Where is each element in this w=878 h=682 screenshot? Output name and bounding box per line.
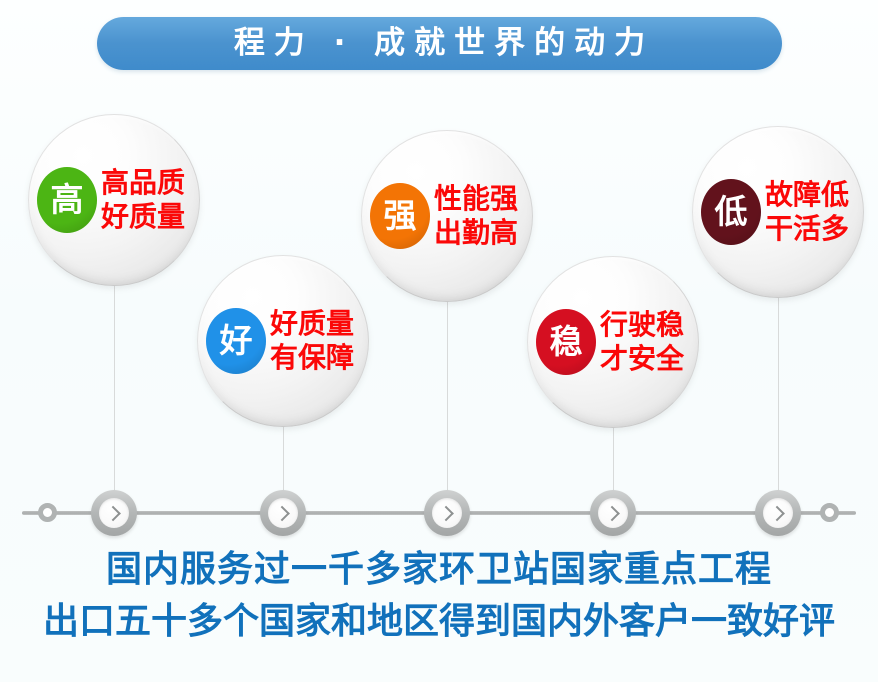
chevron-right-icon [604,505,620,521]
footer-line-1: 国内服务过一千多家环卫站国家重点工程 [0,548,878,592]
balloon-badge-2: 好 [206,308,266,374]
balloon-content: 高 高品质 好质量 [29,115,199,285]
feature-balloon-5: 低 故障低 干活多 [692,126,864,298]
balloon-badge-label: 低 [715,195,748,228]
feature-balloon-4: 稳 行驶稳 才安全 [527,256,699,428]
footer-copy: 国内服务过一千多家环卫站国家重点工程 出口五十多个国家和地区得到国内外客户一致好… [0,548,878,644]
feature-balloon-1: 高 高品质 好质量 [28,114,200,286]
timeline-node-2[interactable] [260,490,306,536]
footer-line-2: 出口五十多个国家和地区得到国内外客户一致好评 [0,600,878,644]
timeline-end-ring-left-icon [38,503,57,522]
chevron-right-icon [274,505,290,521]
balloon-badge-5: 低 [701,179,761,245]
balloon-line-secondary: 出勤高 [434,218,518,248]
timeline-node-core [432,498,462,528]
balloon-text-block: 性能强 出勤高 [434,184,518,248]
balloon-content: 强 性能强 出勤高 [362,131,532,301]
balloon-badge-4: 稳 [536,309,596,375]
balloon-text-block: 高品质 好质量 [101,168,185,232]
header-title: 程力 · 成就世界的动力 [225,28,654,59]
balloon-line-secondary: 才安全 [600,344,684,374]
balloon-content: 稳 行驶稳 才安全 [528,257,698,427]
balloon-string-1 [114,285,115,513]
feature-balloon-3: 强 性能强 出勤高 [361,130,533,302]
timeline-node-4[interactable] [590,490,636,536]
balloon-content: 低 故障低 干活多 [693,127,863,297]
balloon-badge-label: 好 [220,324,253,357]
balloon-line-secondary: 有保障 [270,343,354,373]
balloon-text-block: 好质量 有保障 [270,309,354,373]
balloon-line-secondary: 干活多 [765,214,849,244]
timeline-node-1[interactable] [91,490,137,536]
chevron-right-icon [438,505,454,521]
balloon-line-primary: 高品质 [101,168,185,198]
header-banner: 程力 · 成就世界的动力 [97,17,782,70]
balloon-line-primary: 故障低 [765,180,849,210]
feature-balloon-2: 好 好质量 有保障 [197,255,369,427]
balloon-line-secondary: 好质量 [101,202,185,232]
chevron-right-icon [105,505,121,521]
balloon-line-primary: 行驶稳 [600,310,684,340]
promo-banner-stage: 程力 · 成就世界的动力 高 高品质 好质量 好 好质量 有保障 [0,0,878,682]
balloon-badge-1: 高 [37,167,97,233]
balloon-text-block: 行驶稳 才安全 [600,310,684,374]
balloon-badge-3: 强 [370,183,430,249]
timeline-node-core [99,498,129,528]
timeline-node-core [763,498,793,528]
balloon-text-block: 故障低 干活多 [765,180,849,244]
balloon-content: 好 好质量 有保障 [198,256,368,426]
balloon-string-3 [447,301,448,513]
balloon-badge-label: 强 [384,199,417,232]
balloon-string-5 [778,297,779,513]
chevron-right-icon [769,505,785,521]
timeline-node-core [268,498,298,528]
timeline-node-5[interactable] [755,490,801,536]
timeline-node-3[interactable] [424,490,470,536]
balloon-badge-label: 稳 [550,325,583,358]
balloon-badge-label: 高 [51,183,84,216]
balloon-line-primary: 好质量 [270,309,354,339]
timeline-node-core [598,498,628,528]
balloon-line-primary: 性能强 [434,184,518,214]
timeline-end-ring-right-icon [820,503,839,522]
